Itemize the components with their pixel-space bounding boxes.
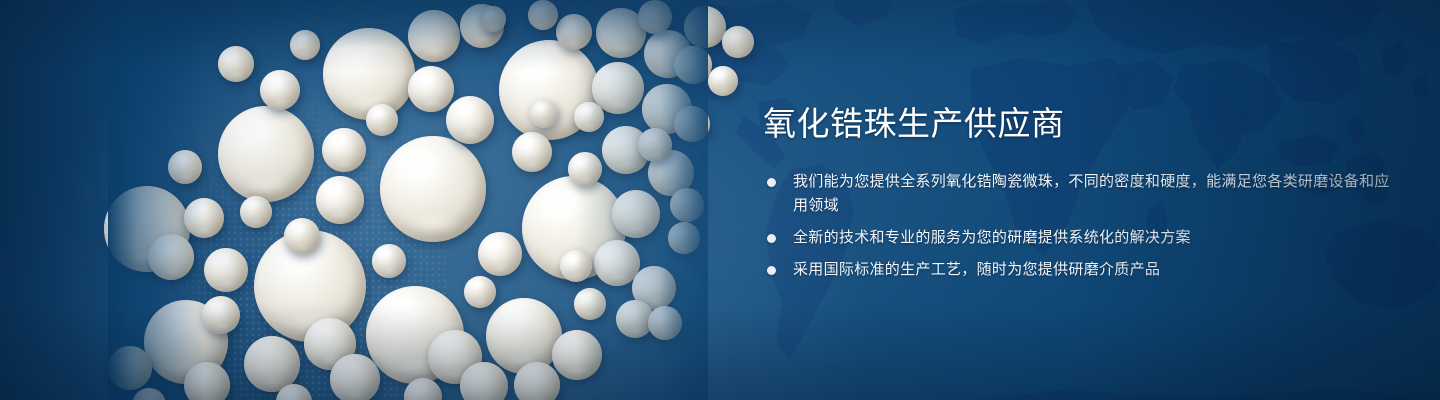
banner-vignette	[0, 0, 1440, 400]
hero-banner: 氧化锆珠生产供应商 我们能为您提供全系列氧化锆陶瓷微珠，不同的密度和硬度，能满足…	[0, 0, 1440, 400]
